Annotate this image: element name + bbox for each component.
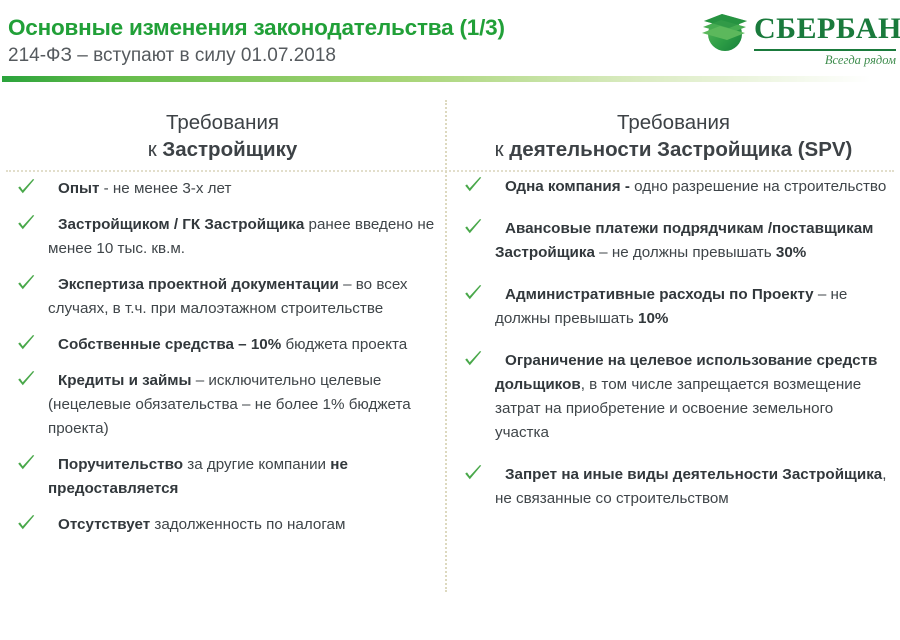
bullet-plain: одно разрешение на строительство xyxy=(630,178,886,195)
bullet-item: Собственные средства – 10% бюджета проек… xyxy=(12,333,435,357)
bullet-text: Отсутствует задолженность по налогам xyxy=(48,513,435,537)
bullet-emphasis: Отсутствует xyxy=(58,516,150,533)
bullet-emphasis: Застройщиком / ГК Застройщика xyxy=(58,216,304,233)
column-header-line2: к Застройщику xyxy=(0,136,445,163)
bullet-emphasis: Кредиты и займы xyxy=(58,372,192,389)
check-icon xyxy=(16,454,36,474)
bullet-text: Запрет на иные виды деятельности Застрой… xyxy=(495,463,888,511)
bullet-text: Опыт - не менее 3-х лет xyxy=(48,177,435,201)
bullet-plain: – не должны превышать xyxy=(595,244,776,261)
column-developer-requirements: Требования к Застройщику Опыт - не менее… xyxy=(0,100,445,549)
bullet-item: Авансовые платежи подрядчикам /поставщик… xyxy=(459,217,888,265)
bullet-text: Одна компания - одно разрешение на строи… xyxy=(495,175,888,199)
column-header-strong: Застройщику xyxy=(162,138,297,161)
check-icon xyxy=(16,214,36,234)
bullet-item: Ограничение на целевое использование сре… xyxy=(459,349,888,445)
check-icon xyxy=(463,464,483,484)
bullet-item: Экспертиза проектной документации – во в… xyxy=(12,273,435,321)
slide-header: Основные изменения законодательства (1/3… xyxy=(0,0,900,78)
column-header-lead: к xyxy=(495,138,510,161)
check-icon xyxy=(463,350,483,370)
bullet-emphasis: 10% xyxy=(638,310,668,327)
column-header-line1: Требования xyxy=(0,109,445,136)
bullet-plain: задолженность по налогам xyxy=(150,516,345,533)
bullet-item: Отсутствует задолженность по налогам xyxy=(12,513,435,537)
column-header-right: Требования к деятельности Застройщика (S… xyxy=(447,100,900,163)
check-icon xyxy=(16,178,36,198)
column-header-left: Требования к Застройщику xyxy=(0,100,445,163)
bullet-item: Административные расходы по Проекту – не… xyxy=(459,283,888,331)
check-icon xyxy=(463,176,483,196)
logo-underline xyxy=(754,49,896,51)
logo-wordmark: СБЕРБАНК xyxy=(754,12,900,46)
bullet-emphasis: Административные расходы по Проекту xyxy=(505,286,814,303)
bullet-emphasis: Поручительство xyxy=(58,456,183,473)
bullet-item: Застройщиком / ГК Застройщика ранее введ… xyxy=(12,213,435,261)
bullet-item: Кредиты и займы – исключительно целевые … xyxy=(12,369,435,441)
bullet-emphasis: 30% xyxy=(776,244,806,261)
bullet-text: Поручительство за другие компании не пре… xyxy=(48,453,435,501)
column-header-lead: к xyxy=(148,138,163,161)
page-subtitle: 214-ФЗ – вступают в силу 01.07.2018 xyxy=(8,43,668,69)
logo-tagline: Всегда рядом xyxy=(754,52,896,68)
bullet-plain: за другие компании xyxy=(183,456,330,473)
bullet-text: Кредиты и займы – исключительно целевые … xyxy=(48,369,435,441)
bullet-list-left: Опыт - не менее 3-х летЗастройщиком / ГК… xyxy=(0,177,445,537)
sberbank-chevron-circle-icon xyxy=(702,12,749,56)
column-header-line1: Требования xyxy=(447,109,900,136)
page-title: Основные изменения законодательства (1/3… xyxy=(8,14,668,42)
bullet-text: Административные расходы по Проекту – не… xyxy=(495,283,888,331)
bullet-text: Ограничение на целевое использование сре… xyxy=(495,349,888,445)
sberbank-logo: СБЕРБАНК Всегда рядом xyxy=(700,9,896,71)
check-icon xyxy=(16,514,36,534)
bullet-emphasis: Собственные средства – 10% xyxy=(58,336,281,353)
column-header-strong: деятельности Застройщика (SPV) xyxy=(509,138,852,161)
bullet-emphasis: Экспертиза проектной документации xyxy=(58,276,339,293)
bullet-item: Запрет на иные виды деятельности Застрой… xyxy=(459,463,888,511)
column-spv-requirements: Требования к деятельности Застройщика (S… xyxy=(447,100,900,529)
check-icon xyxy=(463,218,483,238)
bullet-item: Опыт - не менее 3-х лет xyxy=(12,177,435,201)
bullet-text: Собственные средства – 10% бюджета проек… xyxy=(48,333,435,357)
title-block: Основные изменения законодательства (1/3… xyxy=(8,14,668,69)
check-icon xyxy=(463,284,483,304)
bullet-item: Одна компания - одно разрешение на строи… xyxy=(459,175,888,199)
column-header-line2: к деятельности Застройщика (SPV) xyxy=(447,136,900,163)
bullet-plain: бюджета проекта xyxy=(281,336,407,353)
bullet-emphasis: Одна компания - xyxy=(505,178,630,195)
bullet-list-right: Одна компания - одно разрешение на строи… xyxy=(447,175,900,511)
bullet-plain: - не менее 3-х лет xyxy=(99,180,231,197)
bullet-emphasis: Опыт xyxy=(58,180,99,197)
check-icon xyxy=(16,274,36,294)
header-accent-rule xyxy=(2,76,898,82)
bullet-text: Авансовые платежи подрядчикам /поставщик… xyxy=(495,217,888,265)
bullet-text: Экспертиза проектной документации – во в… xyxy=(48,273,435,321)
check-icon xyxy=(16,334,36,354)
bullet-emphasis: Запрет на иные виды деятельности Застрой… xyxy=(505,466,882,483)
bullet-item: Поручительство за другие компании не пре… xyxy=(12,453,435,501)
bullet-text: Застройщиком / ГК Застройщика ранее введ… xyxy=(48,213,435,261)
check-icon xyxy=(16,370,36,390)
